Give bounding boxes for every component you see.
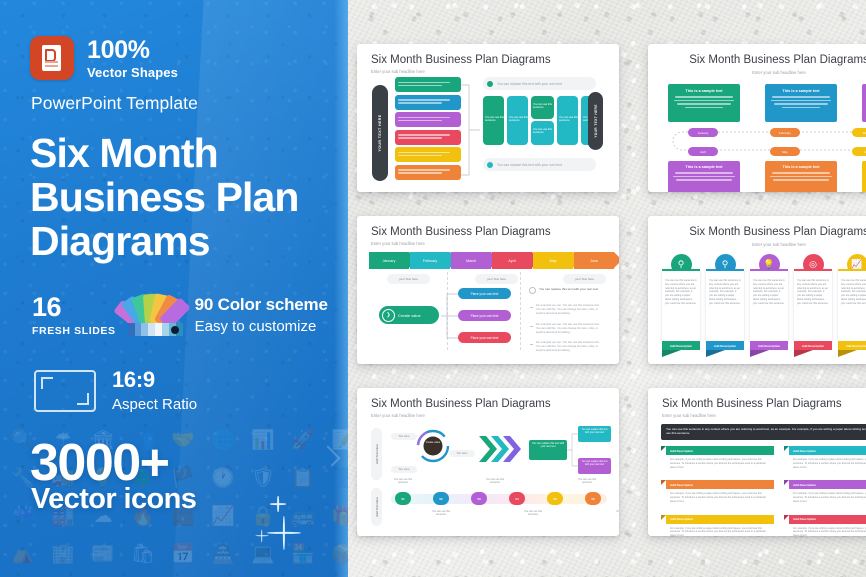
slide-3-month: April	[492, 252, 532, 269]
slide-5-title: Six Month Business Plan Diagrams	[371, 398, 551, 410]
slide-3-divider	[520, 272, 521, 350]
slide-4-ribbon: Add Description	[706, 341, 744, 350]
slide-5-timeline-caption: You can use this sentence	[429, 510, 453, 517]
clipboard-icon: 📋	[284, 460, 322, 496]
slide-1-caption-top-text: You can replace this text with your own …	[497, 82, 562, 86]
slide-2-months-top: January February March	[688, 128, 866, 137]
slide-1-card: You can use this sentence	[531, 121, 554, 145]
slide-4-column-body: You can use this sentence in any context…	[662, 269, 700, 341]
vector-shapes-label: Vector Shapes	[87, 66, 178, 79]
page-title: Six Month Business Plan Diagrams	[30, 132, 350, 264]
slide-1-card-stack: You can use this sentence You can use th…	[531, 96, 554, 145]
color-scheme-stat: 90 Color scheme Easy to customize	[195, 295, 328, 336]
slide-1-card: You can use this sentence	[531, 96, 554, 119]
palette-pin	[171, 326, 179, 334]
slide-3-month: May	[533, 252, 573, 269]
slide-2-card-heading: This is a sample text	[770, 89, 832, 93]
slides-count-value: 16	[32, 294, 116, 321]
slide-6-item-heading: Add Description	[666, 480, 774, 489]
slides-count-label: FRESH SLIDES	[32, 326, 116, 337]
slide-5-timeline-dot: 03	[471, 492, 487, 505]
slide-2-subtitle: Enter your sub headline here	[648, 70, 866, 75]
chevron-arrows-icon	[479, 436, 523, 462]
slide-5-timeline-dot: 01	[395, 492, 411, 505]
slide-6-item: Add Description For example, if you are …	[661, 515, 774, 537]
slide-1-caption-bottom: You can replace this text with your own …	[483, 158, 596, 171]
slide-2-card-heading: This is a sample text	[673, 89, 735, 93]
slide-2-card: This is a sample text	[668, 84, 740, 122]
slide-5-chevron-group	[479, 436, 523, 467]
slide-1-card-text: You can use this sentence	[485, 116, 504, 123]
slide-2-top-cards: This is a sample text This is a sample t…	[668, 84, 866, 122]
slide-6-item-heading: Add Description	[789, 480, 866, 489]
slide-5-subtitle: Enter your sub headline here	[371, 413, 425, 418]
calendar-icon: 📅	[164, 536, 202, 572]
slide-3-column-tag: your Text here	[387, 274, 430, 284]
title-line-1: Six Month	[30, 130, 218, 176]
slide-1-bars	[395, 77, 461, 182]
slide-4-ribbon: Add Description	[794, 341, 832, 350]
slide-5-timeline-dot: 05	[547, 492, 563, 505]
color-scheme-sub: Easy to customize	[195, 318, 328, 336]
chevron-right-icon: ❯	[382, 309, 395, 322]
slide-6-item: Add Description For example, if you are …	[784, 480, 866, 506]
slide-3-bullet-item: For example you can. You can use this se…	[530, 323, 602, 335]
slide-2-card-heading: This is a sample text	[672, 165, 736, 169]
slide-5-timeline-dot: 06	[585, 492, 601, 505]
slide-6-item: Add Description For example, if you are …	[784, 515, 866, 537]
slide-5-timeline-caption: You can use this sentence	[391, 478, 415, 485]
slide-5-timeline-dot: 02	[433, 492, 449, 505]
slide-3-bullet-icon	[529, 287, 536, 294]
slide-6-item-body: For example, if you are writing a paper …	[789, 489, 866, 506]
slide-1-left-pill-label: YOUR TEXT HERE	[378, 114, 382, 151]
sparkle-tiny-icon	[255, 529, 268, 542]
slide-4-column: ⚲ You can use this sentence in any conte…	[706, 254, 744, 357]
slide-3-month: June	[574, 252, 614, 269]
icons-count-value: 3000+	[30, 437, 169, 489]
slide-5-small-tag: Text Here	[391, 433, 417, 440]
slide-2-card-heading: This is a sample text	[769, 165, 833, 169]
slide-3-branch: Place your own text	[458, 332, 511, 343]
slide-1-bar	[395, 95, 461, 110]
slide-5-timeline-captions-bottom: You can use this sentence You can use th…	[429, 510, 619, 517]
slide-1-card: You can use this sentence	[483, 96, 504, 145]
slide-6-banner: You can use this sentence in any context…	[661, 424, 866, 440]
slide-3-branch: Place your own text	[458, 288, 511, 299]
slide-1-card-text: You can use this sentence	[559, 116, 578, 123]
slide-4-ribbon: Add Description	[838, 341, 866, 350]
slide-1-bar	[395, 130, 461, 145]
template-type-label: PowerPoint Template	[31, 93, 198, 114]
slide-4-ribbon: Add Description	[750, 341, 788, 350]
buildings-icon: 🏢	[44, 536, 82, 572]
slide-3-month: March	[451, 252, 491, 269]
slide-5-small-tag: Text Here	[391, 466, 417, 473]
slide-preview-1[interactable]: Six Month Business Plan Diagrams Enter y…	[357, 44, 619, 192]
slide-1-connector	[461, 77, 481, 183]
slide-6-item-body: For example, if you are writing a paper …	[789, 455, 866, 472]
slide-3-bullet-item: For example you can. You can use this se…	[530, 304, 602, 316]
aspect-ratio-stat: 16:9 Aspect Ratio	[112, 367, 197, 414]
color-scheme-title: 90 Color scheme	[195, 295, 328, 315]
slide-5-timeline-caption: You can use this sentence	[483, 478, 507, 485]
slide-5-box-connector	[567, 430, 579, 472]
slide-preview-6[interactable]: Six Month Business Plan Diagrams Enter y…	[648, 388, 866, 536]
promo-banner: 🔍 ☂ 🏛 👥 🤝 🌐 📊 🚀 📝 🔧 🚚 💡 🌲 🏴 🕐 🛡 📋 👤 ☔	[0, 0, 866, 577]
slide-6-items: Add Description For example, if you are …	[661, 446, 866, 536]
title-line-2: Business Plan	[30, 174, 299, 220]
slide-1-caption-top: You can replace this text with your own …	[483, 77, 596, 90]
slide-1-right-pill: YOUR TEXT HERE	[588, 92, 603, 150]
stats-row: 16 FRESH SLIDES 90 Color scheme Easy to …	[32, 290, 328, 336]
slide-1-title: Six Month Business Plan Diagrams	[371, 54, 551, 66]
slide-1-card-text: You can use this sentence	[533, 103, 554, 110]
slide-6-subtitle: Enter your sub headline here	[662, 413, 716, 418]
slide-1-card: You can use this sentence	[557, 96, 578, 145]
slide-3-hub-label: Create value	[398, 313, 421, 318]
slide-1-caption-top-dot	[487, 81, 493, 87]
slide-5-right-box: You can replace this text with your own …	[578, 426, 611, 442]
rocket-icon: 🚀	[284, 422, 322, 458]
slide-4-columns: ⚲ You can use this sentence in any conte…	[662, 254, 866, 357]
slide-4-column-body: You can use this sentence in any context…	[706, 269, 744, 341]
slide-2-card: This is a sample text	[765, 161, 837, 192]
slide-5-circular-arrows	[415, 426, 451, 466]
slide-3-hub: ❯ Create value	[379, 306, 439, 324]
aspect-ratio-value: 16:9	[112, 367, 197, 393]
powerpoint-badge: 100% Vector Shapes	[30, 36, 178, 80]
color-palette-icon	[128, 290, 183, 336]
slide-1-card: You can use this sentence	[507, 96, 528, 145]
bag-icon: 🛍	[124, 536, 162, 572]
slides-count-stat: 16 FRESH SLIDES	[32, 294, 116, 337]
slide-6-item-body: For example, if you are writing a paper …	[666, 455, 774, 472]
slide-6-item-body: For example, if you are writing a paper …	[666, 524, 774, 537]
title-line-3: Diagrams	[30, 218, 210, 264]
vector-shapes-stat: 100% Vector Shapes	[87, 38, 178, 79]
slide-4-column-body: You can use this sentence in any context…	[838, 269, 866, 341]
slide-6-item: Add Description For example, if you are …	[661, 480, 774, 506]
slide-3-subtitle: Enter your sub headline here	[371, 241, 425, 246]
slide-2-bottom-cards: This is a sample text This is a sample t…	[668, 161, 866, 192]
slide-5-hub-label: Create value	[421, 441, 445, 444]
slide-3-branch: Place your own text	[458, 310, 511, 321]
slide-2-month-tag: April	[688, 147, 718, 156]
slide-5-timeline-dot: 04	[509, 492, 525, 505]
slide-3-bullet-item: For example you can. You can use this se…	[530, 341, 602, 353]
slide-2-card: This is a sample text	[765, 84, 837, 122]
slide-4-column: ◎ You can use this sentence in any conte…	[794, 254, 832, 357]
slide-4-ribbon: Add Description	[662, 341, 700, 350]
slide-2-card: This is a sample text	[862, 84, 866, 122]
slide-4-column-body: You can use this sentence in any context…	[794, 269, 832, 341]
slide-5-center-box: You can replace this text with your own …	[529, 440, 567, 460]
slide-4-subtitle: Enter your sub headline here	[648, 242, 866, 247]
slide-5-right-box: You can replace this text with your own …	[578, 458, 611, 474]
slide-1-caption-bottom-dot	[487, 162, 493, 168]
slide-preview-3[interactable]: Six Month Business Plan Diagrams Enter y…	[357, 216, 619, 364]
slide-4-column: 💡 You can use this sentence in any conte…	[750, 254, 788, 357]
aspect-ratio-label: Aspect Ratio	[112, 396, 197, 414]
slide-5-side-tag: Add Text Here	[371, 428, 382, 480]
edit-icon: 📝	[324, 422, 348, 458]
slide-2-month-tag: May	[770, 147, 800, 156]
handshake-icon: 🤝	[164, 422, 202, 458]
slide-6-item-body: For example, if you are writing a paper …	[666, 489, 774, 506]
vector-shapes-percent: 100%	[87, 38, 178, 63]
slide-3-month: February	[410, 252, 450, 269]
slide-5-side-tag: Add Text Here	[371, 488, 382, 526]
slide-preview-5[interactable]: Six Month Business Plan Diagrams Enter y…	[357, 388, 619, 536]
chart-icon: 📊	[244, 422, 282, 458]
slide-6-item-heading: Add Description	[666, 446, 774, 455]
slide-2-card: This is a sample text	[862, 161, 866, 192]
slide-preview-4[interactable]: Six Month Business Plan Diagrams Enter y…	[648, 216, 866, 364]
slide-2-card: This is a sample text	[668, 161, 740, 192]
slide-2-month-tag: January	[688, 128, 718, 137]
slide-6-item: Add Description For example, if you are …	[661, 446, 774, 472]
slide-3-column-tag: your Text here	[475, 274, 518, 284]
slide-5-small-tag: Text Here	[449, 450, 475, 457]
slide-1-cards: You can use this sentence You can use th…	[483, 96, 602, 145]
slide-6-item-heading: Add Description	[666, 515, 774, 524]
sparkle-small-icon	[270, 496, 286, 512]
slide-1-bar	[395, 147, 461, 162]
slide-5-timeline-caption: You can use this sentence	[613, 510, 619, 517]
powerpoint-logo-icon	[30, 36, 74, 80]
slide-3-bullet-heading: You can replace this text with your own …	[529, 287, 601, 294]
slide-1-subtitle: Enter your sub headline here	[371, 69, 425, 74]
gift-icon: 🎁	[324, 498, 348, 534]
fountain-icon: ⛺	[4, 536, 42, 572]
slide-6-item-body: For example, if you are writing a paper …	[789, 524, 866, 537]
slide-3-month-chevrons: January February March April May June	[369, 252, 614, 269]
slide-1-bar	[395, 77, 461, 92]
slide-3-column-tags: your Text here your Text here your Text …	[387, 274, 606, 284]
slide-1-bar	[395, 112, 461, 127]
slide-3-branch-connector	[441, 286, 459, 348]
slide-1-bar	[395, 165, 461, 180]
powerpoint-doc-glyph	[42, 45, 61, 71]
slide-2-months-bottom: April May June	[688, 147, 866, 156]
slide-2-title: Six Month Business Plan Diagrams	[648, 54, 866, 66]
slide-6-item-heading: Add Description	[789, 446, 866, 455]
clock-icon: 🕐	[204, 460, 242, 496]
slide-1-right-pill-label: YOUR TEXT HERE	[594, 104, 598, 138]
slide-2-month-tag: February	[770, 128, 800, 137]
slide-3-bullets: For example you can. You can use this se…	[530, 304, 602, 353]
slide-1-caption-bottom-text: You can replace this text with your own …	[497, 163, 562, 167]
slide-6-title: Six Month Business Plan Diagrams	[662, 398, 842, 410]
box-icon: 📦	[324, 536, 348, 572]
slide-3-column-tag: your Text here	[563, 274, 606, 284]
slide-3-month: January	[369, 252, 409, 269]
globe-icon: 🌐	[204, 422, 242, 458]
slide-3-title: Six Month Business Plan Diagrams	[371, 226, 551, 238]
slide-4-column: 📈 You can use this sentence in any conte…	[838, 254, 866, 357]
slide-1-card-text: You can use this sentence	[533, 128, 554, 135]
person-icon: 👤	[324, 460, 348, 496]
slide-5-timeline-captions-top: You can use this sentence You can use th…	[391, 478, 599, 485]
trend-icon: 📈	[204, 498, 242, 534]
slide-2-month-tag: June	[852, 147, 866, 156]
slide-1-card-text: You can use this sentence	[509, 116, 528, 123]
slide-6-item: Add Description For example, if you are …	[784, 446, 866, 472]
slide-4-column: ⚲ You can use this sentence in any conte…	[662, 254, 700, 357]
slide-6-item-heading: Add Description	[789, 515, 866, 524]
slide-4-column-body: You can use this sentence in any context…	[750, 269, 788, 341]
slide-5-timeline-caption: You can use this sentence	[575, 478, 599, 485]
tower-icon: 🏯	[204, 536, 242, 572]
news-icon: 📰	[84, 536, 122, 572]
slide-4-title: Six Month Business Plan Diagrams	[648, 226, 866, 238]
slide-1-left-pill: YOUR TEXT HERE	[372, 85, 388, 181]
sparkle-large-icon	[267, 516, 301, 550]
slide-preview-2[interactable]: Six Month Business Plan Diagrams Enter y…	[648, 44, 866, 192]
aspect-ratio-icon	[34, 370, 96, 412]
icons-count-label: Vector icons	[31, 485, 196, 514]
slide-2-month-tag: March	[852, 128, 866, 137]
slide-5-timeline-caption: You can use this sentence	[521, 510, 545, 517]
slide-5-timeline-dots: 01 02 03 04 05 06	[395, 492, 601, 505]
slide-3-branches: Place your own text Place your own text …	[458, 288, 511, 343]
shield-icon: 🛡	[244, 460, 282, 496]
aspect-ratio-row: 16:9 Aspect Ratio	[34, 367, 197, 414]
